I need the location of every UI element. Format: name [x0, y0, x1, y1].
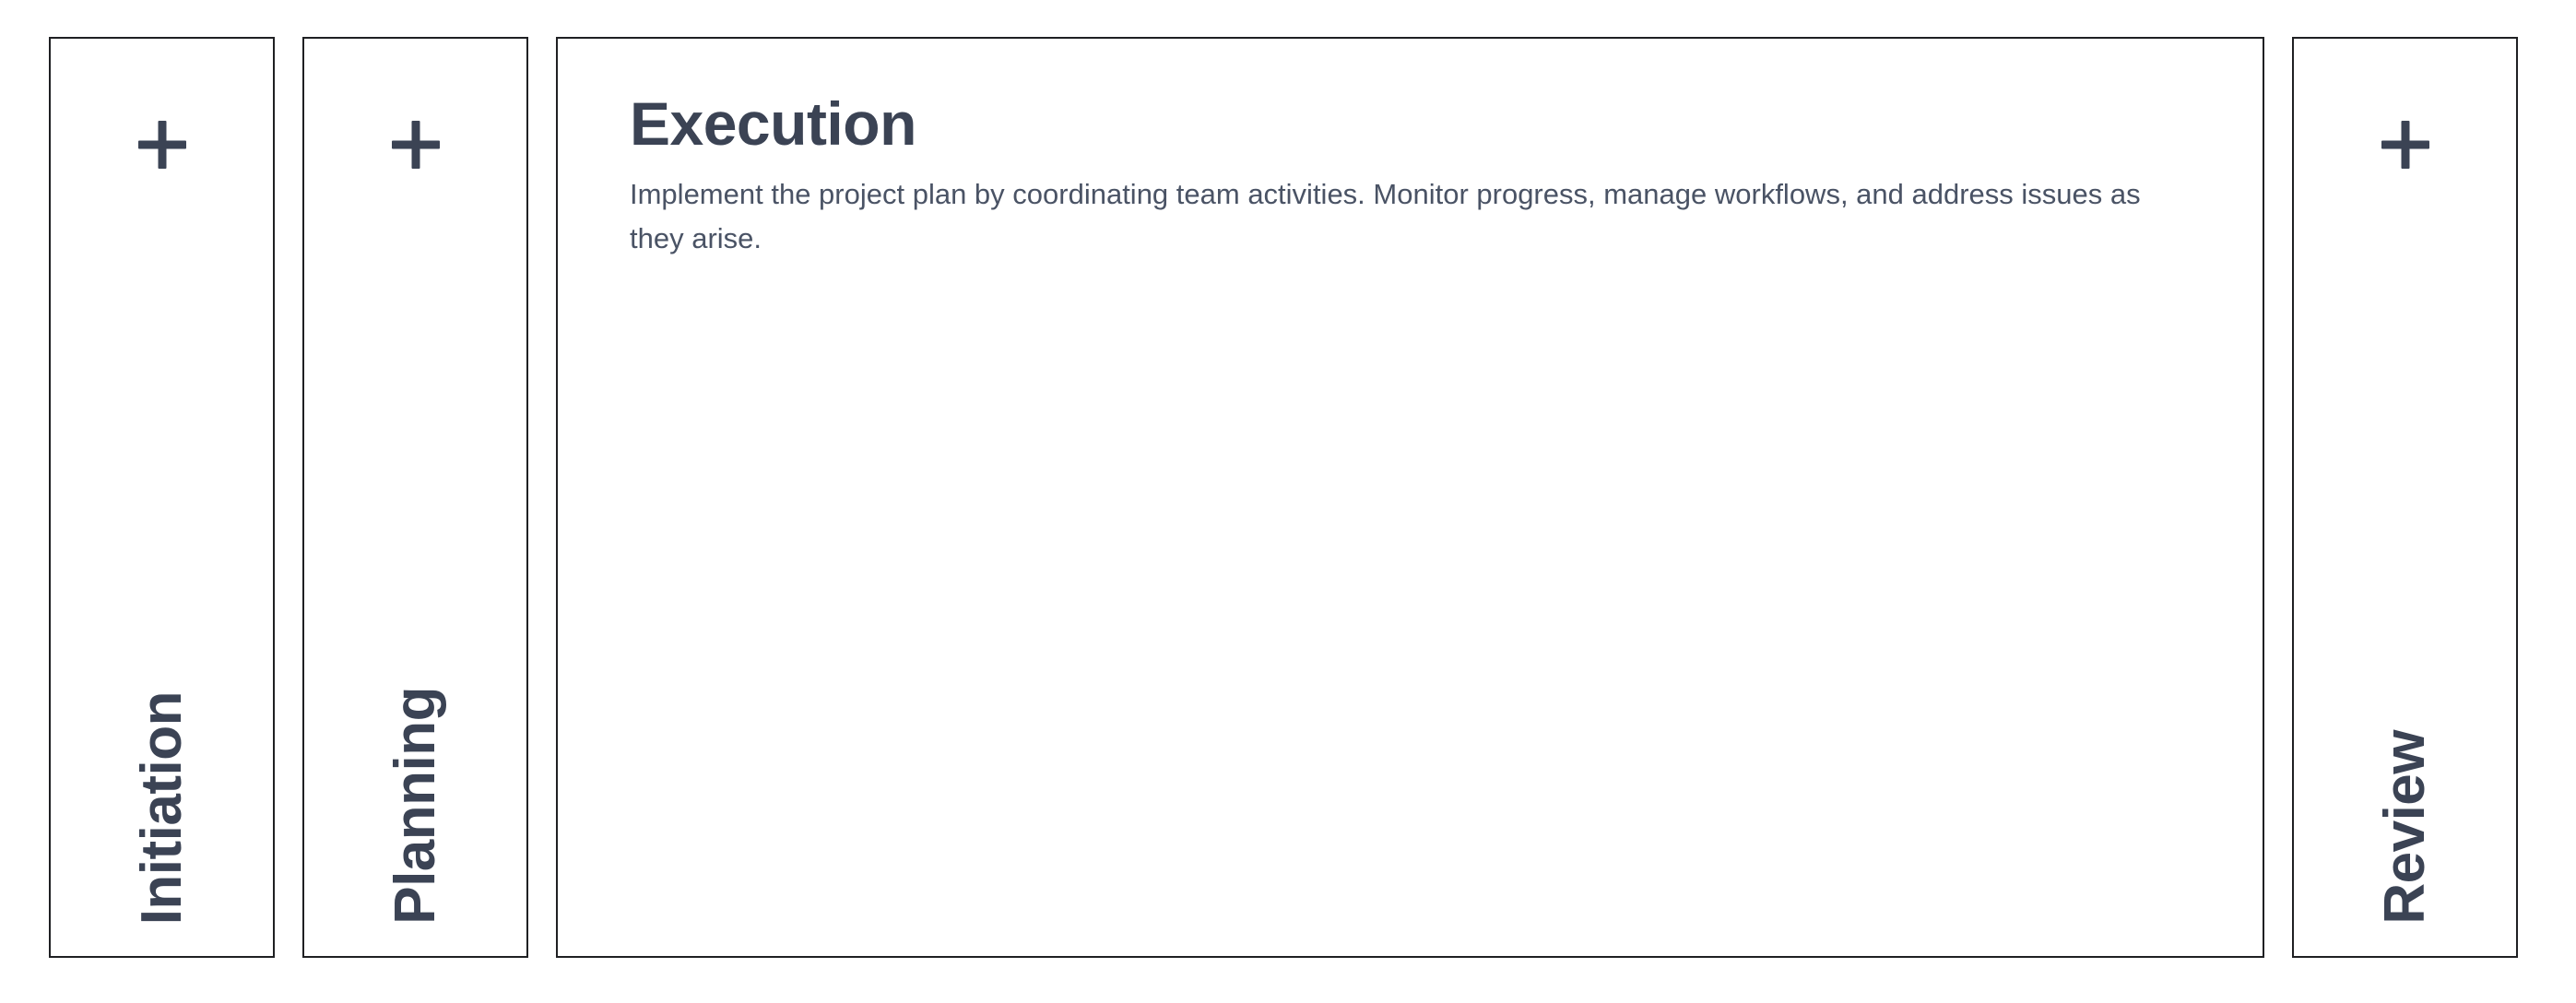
accordion-panel-initiation[interactable]: Initiation [49, 37, 275, 958]
accordion-panel-review[interactable]: Review [2292, 37, 2518, 958]
accordion-panel-review-label-wrap: Review [2294, 730, 2516, 925]
accordion-panel-initiation-label: Initiation [134, 691, 191, 925]
accordion-panel-planning-label-wrap: Planning [304, 687, 526, 925]
add-review-button[interactable] [2294, 39, 2516, 251]
add-planning-button[interactable] [304, 39, 526, 251]
plus-icon [2381, 121, 2429, 169]
accordion-panel-review-label: Review [2377, 730, 2434, 925]
accordion-container: Initiation Planning Execution Implement … [49, 37, 2518, 958]
accordion-panel-execution[interactable]: Execution Implement the project plan by … [556, 37, 2264, 958]
add-initiation-button[interactable] [51, 39, 273, 251]
accordion-panel-planning[interactable]: Planning [302, 37, 528, 958]
accordion-panel-execution-description: Implement the project plan by coordinati… [630, 172, 2197, 261]
accordion-panel-execution-body: Execution Implement the project plan by … [558, 39, 2263, 261]
accordion-panel-initiation-label-wrap: Initiation [51, 691, 273, 925]
plus-icon [138, 121, 186, 169]
accordion-panel-planning-label: Planning [387, 687, 444, 925]
accordion-panel-execution-title: Execution [630, 92, 2205, 156]
plus-icon [392, 121, 440, 169]
